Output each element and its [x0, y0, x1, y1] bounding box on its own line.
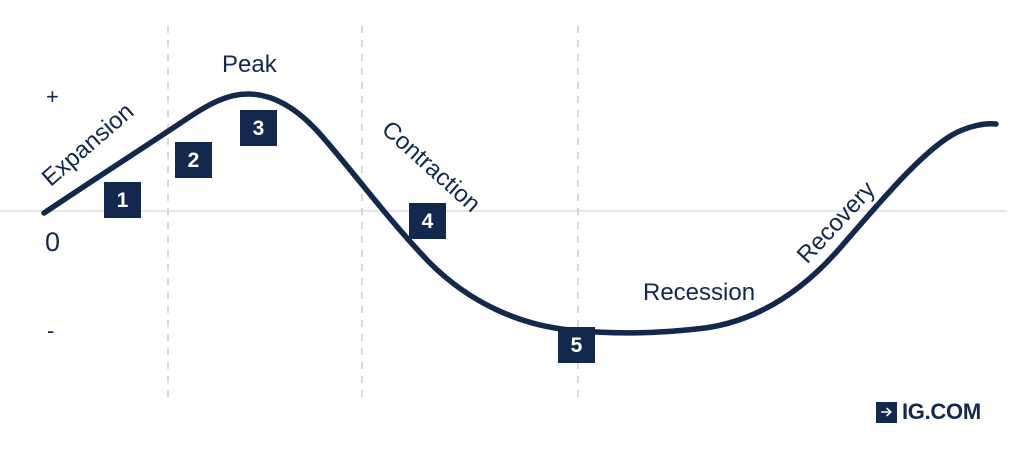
- axis-label-negative: -: [47, 320, 54, 342]
- phase-label-peak: Peak: [222, 53, 277, 77]
- step-badge-1: 1: [104, 182, 141, 218]
- step-badge-2: 2: [175, 142, 212, 178]
- brand-name: IG.COM: [902, 401, 981, 423]
- brand-logo: IG.COM: [876, 401, 981, 423]
- cycle-curve-svg: [0, 0, 1024, 451]
- axis-label-positive: +: [46, 86, 59, 108]
- step-badge-3: 3: [240, 110, 277, 146]
- step-badge-4: 4: [409, 203, 446, 239]
- step-badge-5: 5: [558, 327, 595, 363]
- economic-cycle-diagram: + 0 - Expansion Peak Contraction Recessi…: [0, 0, 1024, 451]
- axis-label-zero: 0: [45, 229, 60, 256]
- arrow-right-icon: [876, 402, 897, 423]
- phase-label-recession: Recession: [643, 281, 755, 305]
